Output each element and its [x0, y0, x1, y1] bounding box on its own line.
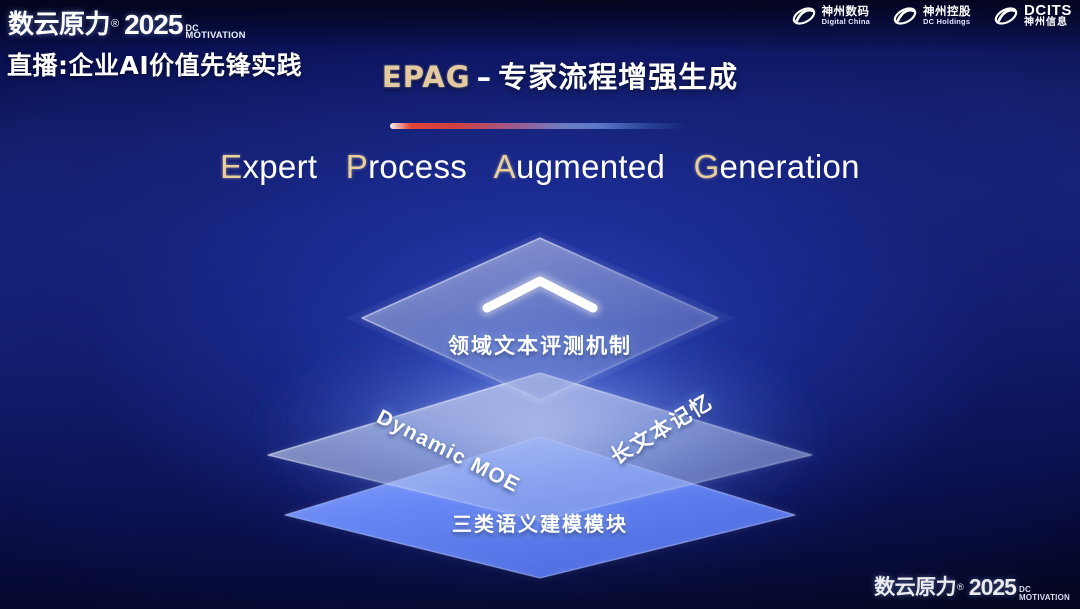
partner-name-en: DCITS	[1024, 3, 1072, 18]
partner-name-cn: 神州信息	[1024, 18, 1072, 28]
subtitle-cap: P	[346, 148, 368, 185]
page-title: EPAG–专家流程增强生成	[0, 54, 1080, 96]
swoosh-icon	[892, 5, 918, 27]
title-divider	[390, 123, 688, 129]
title-dash: –	[471, 60, 499, 94]
subtitle: Expert Process Augmented Generation	[0, 148, 1080, 186]
title-chinese: 专家流程增强生成	[498, 60, 738, 94]
swoosh-icon	[993, 5, 1019, 27]
registered-mark: ®	[111, 18, 119, 30]
brand-tagline-line2: MOTIVATION	[185, 32, 245, 41]
partner-name-cn: 神州数码	[822, 6, 870, 18]
partner-logo-group: 神州数码 Digital China 神州控股 DC Holdings DCIT…	[791, 3, 1072, 28]
stack-layer-middle	[268, 373, 812, 521]
subtitle-rest: eneration	[720, 148, 860, 185]
subtitle-cap: E	[220, 148, 242, 185]
partner-name-en: Digital China	[822, 18, 870, 26]
layer-label-dynamic-moe: Dynamic MOE	[373, 405, 524, 498]
subtitle-space	[327, 148, 336, 185]
subtitle-cap: A	[494, 148, 516, 185]
subtitle-space	[675, 148, 684, 185]
presentation-slide: 领域文本评测机制 Dynamic MOE 长文本记忆 三类语义建模模块 数云原力…	[0, 0, 1080, 609]
brand-year: 2025	[124, 9, 182, 41]
subtitle-rest: rocess	[368, 148, 467, 185]
subtitle-rest: xpert	[242, 148, 317, 185]
brand-logo: 数云原力 ® 2025 DC MOTIVATION	[8, 4, 246, 41]
swoosh-icon	[791, 5, 817, 27]
layer-label-long-text-memory: 长文本记忆	[604, 386, 718, 471]
partner-text: DCITS 神州信息	[1024, 3, 1072, 28]
subtitle-word-expert: Expert	[220, 148, 317, 185]
partner-name-en: DC Holdings	[923, 18, 971, 26]
subtitle-cap: G	[694, 148, 720, 185]
partner-name-cn: 神州控股	[923, 6, 971, 18]
brand-tagline-line2: MOTIVATION	[1019, 594, 1070, 601]
subtitle-word-augmented: Augmented	[494, 148, 666, 185]
partner-logo-dcits: DCITS 神州信息	[993, 3, 1072, 28]
partner-text: 神州数码 Digital China	[822, 6, 870, 25]
partner-logo-digital-china: 神州数码 Digital China	[791, 5, 870, 27]
brand-watermark: 数云原力 ® 2025 DC MOTIVATION	[874, 571, 1070, 601]
brand-tagline: DC MOTIVATION	[185, 24, 245, 41]
subtitle-space	[477, 148, 486, 185]
layer-label-top: 领域文本评测机制	[0, 330, 1080, 360]
subtitle-word-generation: Generation	[694, 148, 860, 185]
partner-logo-dc-holdings: 神州控股 DC Holdings	[892, 5, 971, 27]
subtitle-word-process: Process	[346, 148, 467, 185]
stack-layer-top	[345, 232, 735, 406]
title-acronym: EPAG	[382, 60, 471, 94]
brand-name-cn: 数云原力	[8, 4, 110, 41]
chevron-up-icon	[487, 281, 593, 308]
registered-mark: ®	[957, 582, 964, 592]
layer-label-bottom: 三类语义建模模块	[0, 508, 1080, 537]
brand-name-cn: 数云原力	[874, 571, 956, 601]
subtitle-rest: ugmented	[516, 148, 665, 185]
partner-text: 神州控股 DC Holdings	[923, 6, 971, 25]
brand-tagline: DC MOTIVATION	[1019, 586, 1070, 601]
brand-year: 2025	[969, 574, 1016, 601]
